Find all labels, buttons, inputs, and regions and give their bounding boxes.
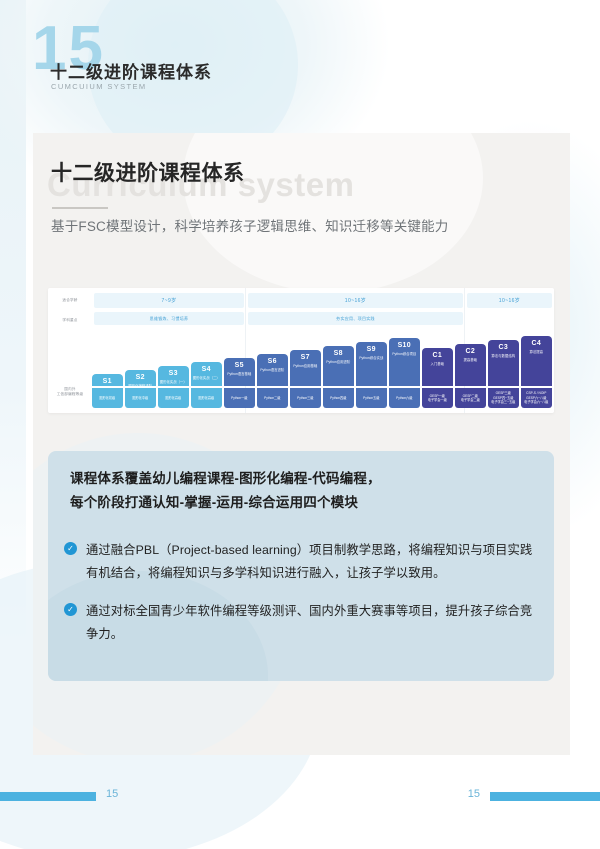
check-icon: ✓	[64, 542, 77, 555]
level-card-s2[interactable]: S2图形化编程进阶	[125, 370, 156, 386]
page-number-left: 15	[106, 788, 118, 800]
level-code: S8	[323, 349, 354, 358]
info-heading-line1: 课程体系覆盖幼儿编程课程-图形化编程-代码编程，	[70, 467, 534, 491]
level-description: 提高基础	[455, 358, 486, 363]
level-certification-s6: Python二级	[257, 388, 288, 408]
row-label-certification: 国内外工信部编程等级	[50, 387, 90, 398]
level-card-s10[interactable]: S10Python综合项目	[389, 338, 420, 386]
level-code: C4	[521, 339, 552, 348]
level-description: Python语言进阶	[257, 368, 288, 373]
level-certification-s1: 图形化初级	[92, 388, 123, 408]
level-certification-s9: Python五级	[356, 388, 387, 408]
level-description: Python综合项目	[389, 352, 420, 357]
level-card-s6[interactable]: S6Python语言进阶	[257, 354, 288, 386]
level-card-c2[interactable]: C2提高基础	[455, 344, 486, 386]
bullet-text: 通过对标全国青少年软件编程等级测评、国内外重大赛事等项目，提升孩子综合竞争力。	[86, 604, 532, 641]
level-certification-s2: 图形化中级	[125, 388, 156, 408]
page-number-right: 15	[468, 788, 480, 800]
bullet-text: 通过融合PBL（Project-based learning）项目制教学思路，将…	[86, 543, 532, 580]
level-description: 入门基础	[422, 362, 453, 367]
level-code: S3	[158, 369, 189, 378]
level-code: S4	[191, 365, 222, 374]
footer-bar-right	[490, 792, 600, 801]
page-header: 15 十二级进阶课程体系 CUMCUIUM SYSTEM	[28, 22, 288, 104]
level-certification-s4: 图形化高级	[191, 388, 222, 408]
chart-row-labels: 适合学龄 学科重点 国内外工信部编程等级	[48, 288, 92, 413]
level-code: S6	[257, 357, 288, 366]
row-label-age: 适合学龄	[50, 298, 90, 303]
level-description: Python应用基础	[290, 364, 321, 369]
page-subtitle: 基于FSC模型设计，科学培养孩子逻辑思维、知识迁移等关键能力	[51, 215, 449, 235]
group-focus-stage2: 夯实应用、项目实践	[248, 312, 463, 325]
level-card-s7[interactable]: S7Python应用基础	[290, 350, 321, 386]
level-card-c1[interactable]: C1入门基础	[422, 348, 453, 386]
level-description: 图形化实战（二）	[191, 376, 222, 381]
level-code: C2	[455, 347, 486, 356]
main-content-card: Curriculum system 十二级进阶课程体系 基于FSC模型设计，科学…	[33, 133, 570, 755]
info-bullet-list: ✓ 通过融合PBL（Project-based learning）项目制教学思路…	[64, 539, 538, 662]
info-heading: 课程体系覆盖幼儿编程课程-图形化编程-代码编程， 每个阶段打通认知-掌握-运用-…	[70, 467, 534, 514]
level-card-s5[interactable]: S5Python语言基础	[224, 358, 255, 386]
level-card-s8[interactable]: S8Python应用进阶	[323, 346, 354, 386]
course-progression-chart: 适合学龄 学科重点 国内外工信部编程等级 7~9岁 思维锻炼、习惯培养 10~1…	[48, 288, 554, 413]
list-item: ✓ 通过融合PBL（Project-based learning）项目制教学思路…	[64, 539, 538, 584]
level-certification-c1: GESP一级电子学会一级	[422, 388, 453, 408]
level-description: Python应用进阶	[323, 360, 354, 365]
check-icon: ✓	[64, 603, 77, 616]
level-certification-s8: Python四级	[323, 388, 354, 408]
level-certification-c2: GESP二级电子学会二级	[455, 388, 486, 408]
level-certification-s10: Python六级	[389, 388, 420, 408]
level-card-c4[interactable]: C4算法提高	[521, 336, 552, 386]
level-description: Python综合实战	[356, 356, 387, 361]
list-item: ✓ 通过对标全国青少年软件编程等级测评、国内外重大赛事等项目，提升孩子综合竞争力…	[64, 600, 538, 645]
group-focus-stage1: 思维锻炼、习惯培养	[94, 312, 244, 325]
level-card-s3[interactable]: S3图形化实战（一）	[158, 366, 189, 386]
group-age-stage2: 10~16岁	[248, 293, 463, 308]
level-description: 算法提高	[521, 350, 552, 355]
info-panel: 课程体系覆盖幼儿编程课程-图形化编程-代码编程， 每个阶段打通认知-掌握-运用-…	[48, 451, 554, 681]
level-certification-s7: Python三级	[290, 388, 321, 408]
group-age-stage3: 10~16岁	[467, 293, 552, 308]
footer-bar-left	[0, 792, 96, 801]
level-description: 图形化实战（一）	[158, 380, 189, 385]
level-code: S1	[92, 377, 123, 386]
level-code: C3	[488, 343, 519, 352]
group-age-stage1: 7~9岁	[94, 293, 244, 308]
header-title-en: CUMCUIUM SYSTEM	[51, 82, 147, 91]
level-description: 算法与数据结构	[488, 354, 519, 359]
level-code: S2	[125, 373, 156, 382]
level-code: S10	[389, 341, 420, 350]
level-certification-c4: CSP-S / NOIPGESP六~八级电子学会六~八级	[521, 388, 552, 408]
level-description: Python语言基础	[224, 372, 255, 377]
chart-level-cards: S1图形化编程基础图形化初级S2图形化编程进阶图形化中级S3图形化实战（一）图形…	[92, 326, 554, 408]
level-code: S7	[290, 353, 321, 362]
level-card-s1[interactable]: S1图形化编程基础	[92, 374, 123, 386]
page-title: 十二级进阶课程体系	[51, 157, 245, 187]
page-footer: 15 15	[0, 780, 600, 820]
level-certification-s3: 图形化高级	[158, 388, 189, 408]
level-code: S5	[224, 361, 255, 370]
header-title-cn: 十二级进阶课程体系	[50, 58, 212, 83]
level-certification-c3: GESP三级GESP四~五级电子学会三~五级	[488, 388, 519, 408]
level-card-s4[interactable]: S4图形化实战（二）	[191, 362, 222, 386]
level-card-s9[interactable]: S9Python综合实战	[356, 342, 387, 386]
level-code: C1	[422, 351, 453, 360]
level-certification-s5: Python一级	[224, 388, 255, 408]
row-label-focus: 学科重点	[50, 318, 90, 323]
level-card-c3[interactable]: C3算法与数据结构	[488, 340, 519, 386]
info-heading-line2: 每个阶段打通认知-掌握-运用-综合运用四个模块	[70, 491, 534, 515]
title-divider	[52, 207, 108, 209]
level-code: S9	[356, 345, 387, 354]
